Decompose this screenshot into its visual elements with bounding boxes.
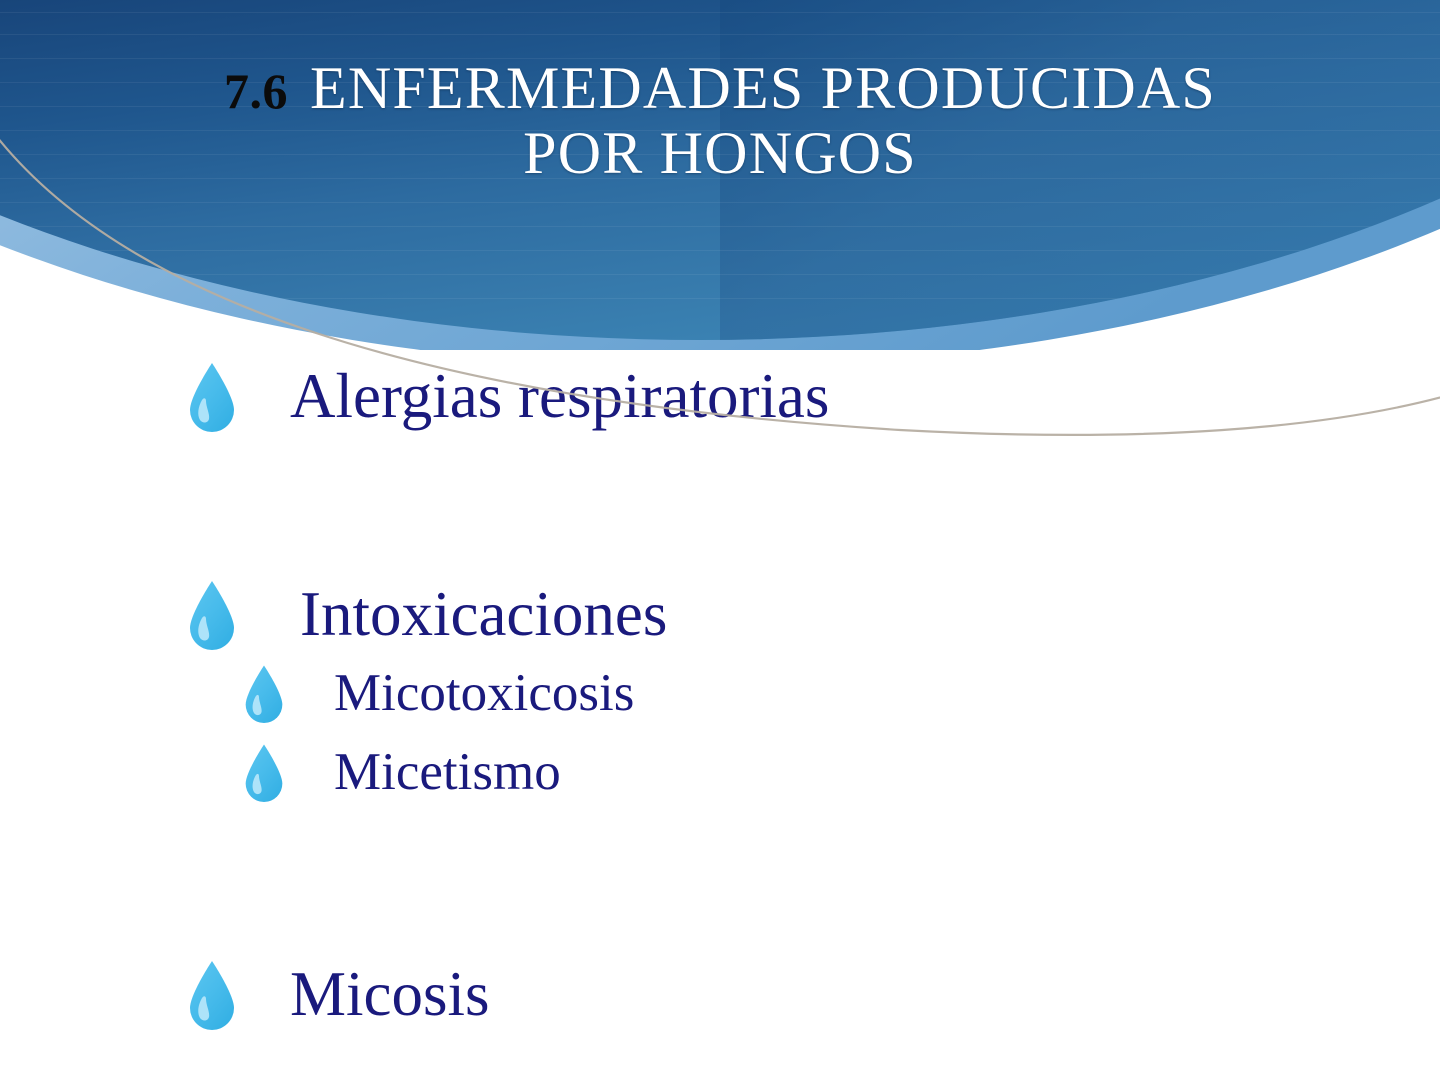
bullet-label: Micosis [290, 963, 490, 1026]
slide-body: Alergias respiratorias Intoxicaciones [0, 350, 1440, 1080]
bullet-item-intoxicaciones[interactable]: Intoxicaciones [186, 578, 667, 650]
bullet-item-micotoxicosis[interactable]: Micotoxicosis [242, 663, 634, 723]
water-drop-icon [186, 360, 238, 432]
header-banner [0, 0, 1440, 350]
water-drop-icon [186, 578, 238, 650]
bullet-label: Micotoxicosis [334, 667, 634, 720]
banner-graphic [0, 0, 1440, 350]
water-drop-icon [186, 958, 238, 1030]
bullet-label: Micetismo [334, 746, 561, 799]
water-drop-icon [242, 742, 286, 802]
bullet-item-micosis[interactable]: Micosis [186, 958, 490, 1030]
bullet-label: Intoxicaciones [300, 583, 667, 646]
water-drop-icon [242, 663, 286, 723]
bullet-item-micetismo[interactable]: Micetismo [242, 742, 561, 802]
slide-canvas: 7.6ENFERMEDADES PRODUCIDAS POR HONGOS Al… [0, 0, 1440, 1080]
bullet-label: Alergias respiratorias [290, 365, 829, 428]
bullet-item-alergias-respiratorias[interactable]: Alergias respiratorias [186, 360, 829, 432]
